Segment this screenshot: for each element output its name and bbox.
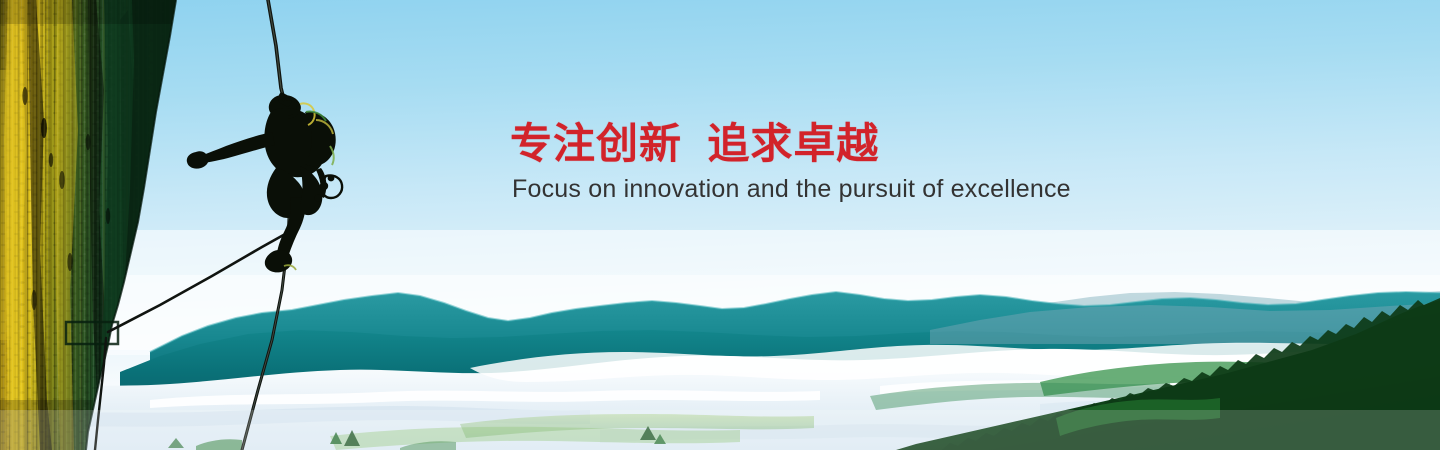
hero-banner: 专注创新 追求卓越 Focus on innovation and the pu… — [0, 0, 1440, 450]
banner-text-block: 专注创新 追求卓越 Focus on innovation and the pu… — [510, 120, 1210, 204]
banner-scene — [0, 0, 1440, 450]
banner-subheadline-english: Focus on innovation and the pursuit of e… — [512, 174, 1210, 204]
banner-headline-chinese: 专注创新 追求卓越 — [510, 120, 1210, 168]
